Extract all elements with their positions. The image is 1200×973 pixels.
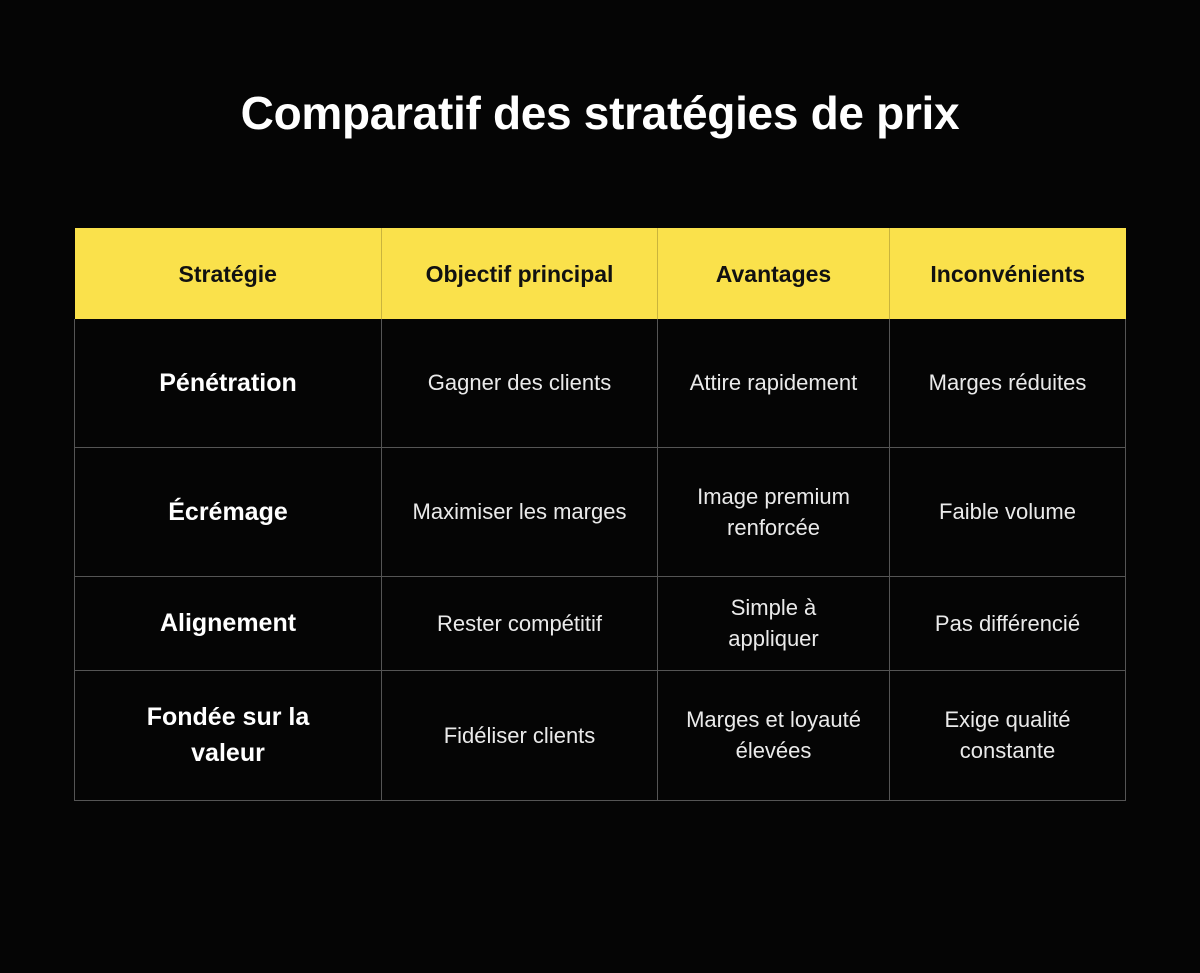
table-header-row: Stratégie Objectif principal Avantages I… xyxy=(75,228,1126,319)
cell-strategy: Pénétration xyxy=(75,319,382,447)
cell-objectif: Fidéliser clients xyxy=(382,670,658,800)
table-body: Pénétration Gagner des clients Attire ra… xyxy=(75,319,1126,800)
page-title: Comparatif des stratégies de prix xyxy=(0,84,1200,142)
cell-avantages: Simple à appliquer xyxy=(658,576,890,670)
cell-inconvenients-line1: Exige qualité xyxy=(902,704,1113,735)
cell-objectif: Maximiser les marges xyxy=(382,447,658,576)
cell-avantages: Attire rapidement xyxy=(658,319,890,447)
table-header: Stratégie Objectif principal Avantages I… xyxy=(75,228,1126,319)
column-header-inconvenients: Inconvénients xyxy=(890,228,1126,319)
cell-inconvenients: Faible volume xyxy=(890,447,1126,576)
cell-inconvenients: Pas différencié xyxy=(890,576,1126,670)
comparison-table-container: Stratégie Objectif principal Avantages I… xyxy=(74,228,1125,801)
cell-avantages: Marges et loyauté élevées xyxy=(658,670,890,800)
table-row: Fondée sur la valeur Fidéliser clients M… xyxy=(75,670,1126,800)
cell-strategy-line2: valeur xyxy=(87,735,369,771)
cell-inconvenients-line1: Pas différencié xyxy=(902,608,1113,639)
table-row: Alignement Rester compétitif Simple à ap… xyxy=(75,576,1126,670)
cell-inconvenients: Marges réduites xyxy=(890,319,1126,447)
cell-avantages: Image premium renforcée xyxy=(658,447,890,576)
column-header-objectif-principal: Objectif principal xyxy=(382,228,658,319)
cell-avantages-line1: Simple à xyxy=(670,592,877,623)
cell-strategy: Écrémage xyxy=(75,447,382,576)
cell-avantages-line2: renforcée xyxy=(670,512,877,543)
cell-inconvenients-line2: constante xyxy=(902,735,1113,766)
cell-avantages-line2: appliquer xyxy=(670,623,877,654)
slide-canvas: Comparatif des stratégies de prix Straté… xyxy=(0,0,1200,973)
column-header-strategie: Stratégie xyxy=(75,228,382,319)
table-row: Pénétration Gagner des clients Attire ra… xyxy=(75,319,1126,447)
table-row: Écrémage Maximiser les marges Image prem… xyxy=(75,447,1126,576)
cell-inconvenients-line1: Marges réduites xyxy=(902,367,1113,398)
cell-strategy-line1: Fondée sur la xyxy=(87,699,369,735)
cell-avantages-line1: Marges et loyauté xyxy=(670,704,877,735)
cell-avantages-line2: élevées xyxy=(670,735,877,766)
cell-inconvenients-line1: Faible volume xyxy=(902,496,1113,527)
cell-strategy: Fondée sur la valeur xyxy=(75,670,382,800)
cell-avantages-line1: Attire rapidement xyxy=(670,367,877,398)
cell-avantages-line1: Image premium xyxy=(670,481,877,512)
cell-objectif: Rester compétitif xyxy=(382,576,658,670)
cell-inconvenients: Exige qualité constante xyxy=(890,670,1126,800)
cell-objectif: Gagner des clients xyxy=(382,319,658,447)
cell-strategy: Alignement xyxy=(75,576,382,670)
pricing-strategy-table: Stratégie Objectif principal Avantages I… xyxy=(74,228,1126,801)
column-header-avantages: Avantages xyxy=(658,228,890,319)
